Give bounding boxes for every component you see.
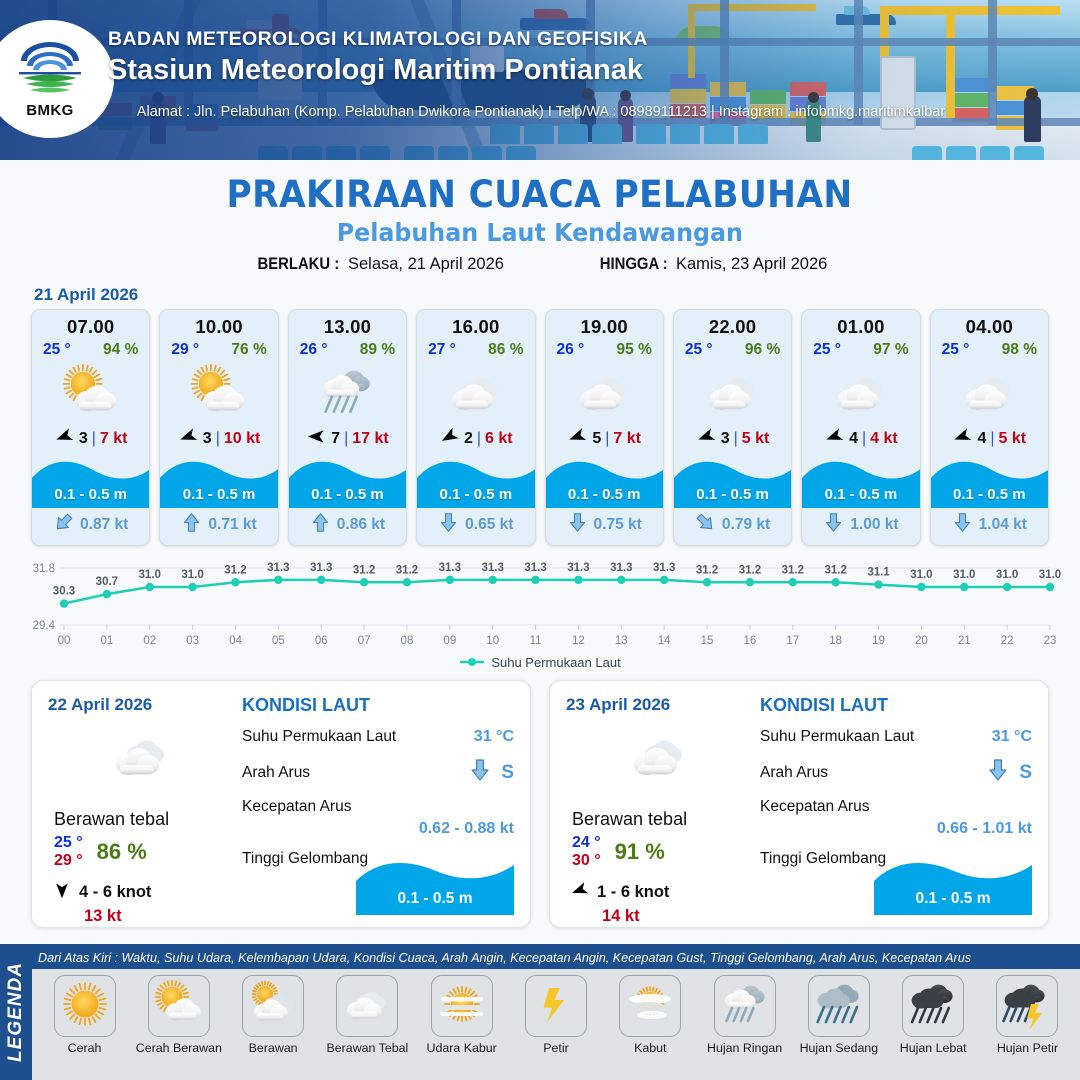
svg-text:31.2: 31.2	[396, 564, 418, 576]
svg-text:11: 11	[530, 635, 542, 647]
card-current-speed: 0.79 kt	[722, 516, 770, 534]
card-wind-separator: |	[862, 430, 866, 448]
svg-text:17: 17	[786, 635, 799, 647]
card-current-speed: 0.86 kt	[337, 516, 385, 534]
svg-text:31.3: 31.3	[567, 562, 589, 574]
card-wind-degree: 2	[464, 430, 473, 448]
card-wave-height: 0.1 - 0.5 m	[417, 486, 534, 503]
current-direction-arrow-icon	[823, 512, 844, 538]
svg-text:14: 14	[658, 635, 671, 647]
wave-height-band: 0.1 - 0.5 m	[417, 456, 534, 508]
card-wind-degree: 5	[592, 430, 601, 448]
svg-text:00: 00	[58, 635, 71, 647]
card-temperature: 29 °	[171, 341, 199, 359]
current-direction-arrow-icon	[310, 512, 331, 538]
panel-gust: 13 kt	[84, 907, 234, 926]
card-temperature: 25 °	[43, 341, 71, 359]
weather-icon-sunny	[60, 979, 110, 1034]
svg-text:31.3: 31.3	[310, 562, 332, 574]
weather-icon-partly-cloudy	[154, 979, 204, 1034]
current-direction-arrow-icon	[438, 512, 459, 538]
svg-text:05: 05	[272, 635, 285, 647]
card-humidity: 95 %	[617, 341, 652, 359]
svg-text:31.3: 31.3	[524, 562, 546, 574]
card-time: 10.00	[160, 310, 277, 338]
wave-height-band: 0.1 - 0.5 m	[32, 456, 149, 508]
card-humidity: 86 %	[488, 341, 523, 359]
panel-wind-range: 4 - 6 knot	[79, 883, 151, 902]
svg-text:22: 22	[1001, 635, 1014, 647]
card-gust-speed: 10 kt	[224, 430, 260, 448]
wind-direction-arrow-icon	[696, 426, 717, 452]
wind-direction-arrow-icon	[306, 426, 327, 452]
svg-text:15: 15	[701, 635, 714, 647]
chart-legend: Suhu Permukaan Laut	[0, 655, 1080, 670]
agency-name: BADAN METEOROLOGI KLIMATOLOGI DAN GEOFIS…	[108, 28, 648, 51]
panel-wave-graphic: 0.1 - 0.5 m	[356, 853, 514, 915]
legend-item-label: Udara Kabur	[427, 1041, 497, 1055]
svg-text:30.7: 30.7	[96, 576, 118, 588]
card-wave-height: 0.1 - 0.5 m	[32, 486, 149, 503]
card-wave-height: 0.1 - 0.5 m	[931, 486, 1048, 503]
legend-spine: LEGENDA	[0, 944, 32, 1080]
legend-tile-thunderstorm	[996, 975, 1058, 1037]
svg-text:29.4: 29.4	[33, 620, 56, 632]
current-direction-arrow-icon	[986, 758, 1010, 787]
legend-caption: Dari Atas Kiri : Waktu, Suhu Udara, Kele…	[32, 944, 1080, 969]
card-gust-speed: 17 kt	[352, 430, 388, 448]
legend-item-label: Hujan Sedang	[800, 1041, 879, 1055]
forecast-title-block: PRAKIRAAN CUACA PELABUHAN Pelabuhan Laut…	[0, 173, 1080, 274]
panel-temp-min: 25 °	[54, 834, 83, 852]
weather-icon-light-rain	[720, 979, 770, 1034]
card-wind-degree: 4	[849, 430, 858, 448]
svg-text:31.2: 31.2	[696, 564, 718, 576]
sst-value: 31 °C	[474, 728, 514, 746]
panel-wave-value: 0.1 - 0.5 m	[874, 890, 1032, 908]
legend-item: Petir	[509, 975, 602, 1055]
svg-text:31.8: 31.8	[33, 563, 55, 575]
legend-item: Berawan	[227, 975, 320, 1055]
wave-height-label: Tinggi Gelombang	[242, 850, 368, 868]
wind-direction-arrow-icon	[952, 426, 973, 452]
card-wind-separator: |	[605, 430, 609, 448]
daily-summary-panel: 22 April 2026	[31, 680, 531, 928]
valid-from: BERLAKU : Selasa, 21 April 2026	[253, 255, 504, 274]
weather-icon-cloudy	[931, 361, 1048, 423]
svg-text:03: 03	[186, 635, 199, 647]
svg-text:31.3: 31.3	[610, 562, 632, 574]
current-speed-label: Kecepatan Arus	[760, 798, 1032, 816]
legend-item: Hujan Lebat	[887, 975, 980, 1055]
svg-text:31.1: 31.1	[867, 567, 890, 579]
legend-tile-sunny	[54, 975, 116, 1037]
card-wind-degree: 3	[203, 430, 212, 448]
svg-text:31.2: 31.2	[224, 564, 246, 576]
card-temperature: 26 °	[557, 341, 585, 359]
weather-icon-moderate-rain	[814, 979, 864, 1034]
legend-item: Berawan Tebal	[321, 975, 414, 1055]
legend-item: Hujan Petir	[981, 975, 1074, 1055]
svg-text:20: 20	[915, 635, 928, 647]
current-direction-arrow-icon	[952, 512, 973, 538]
wind-direction-arrow-icon	[567, 426, 588, 452]
svg-text:31.2: 31.2	[739, 564, 761, 576]
wind-direction-arrow-icon	[54, 426, 75, 452]
card-wind-separator: |	[344, 430, 348, 448]
wave-height-band: 0.1 - 0.5 m	[931, 456, 1048, 508]
card-current-speed: 0.75 kt	[594, 516, 642, 534]
wave-height-band: 0.1 - 0.5 m	[160, 456, 277, 508]
weather-icon-cloudy	[802, 361, 919, 423]
svg-text:31.2: 31.2	[782, 564, 804, 576]
panel-gust: 14 kt	[602, 907, 752, 926]
svg-text:31.0: 31.0	[1039, 569, 1061, 581]
panel-temp-max: 29 °	[54, 852, 83, 870]
svg-text:01: 01	[100, 635, 113, 647]
card-current-speed: 1.04 kt	[979, 516, 1027, 534]
svg-text:09: 09	[443, 635, 456, 647]
weather-icon-cloudy	[674, 361, 791, 423]
weather-icon-partly-cloudy	[32, 361, 149, 423]
weather-icon-cloudy	[342, 979, 392, 1034]
current-speed-value: 0.62 - 0.88 kt	[242, 820, 514, 838]
legend-spine-label: LEGENDA	[5, 962, 27, 1062]
legend-item-label: Berawan Tebal	[327, 1041, 409, 1055]
legend-tile-fog	[619, 975, 681, 1037]
card-temperature: 25 °	[813, 341, 841, 359]
legend-item: Cerah	[38, 975, 131, 1055]
legend-tile-moderate-rain	[808, 975, 870, 1037]
forecast-card: 16.00 27 ° 86 %	[416, 309, 535, 546]
weather-icon-cloudy	[546, 361, 663, 423]
panel-humidity: 86 %	[97, 839, 147, 865]
weather-icon-thunder	[531, 979, 581, 1034]
panel-temp-max: 30 °	[572, 852, 601, 870]
card-time: 13.00	[289, 310, 406, 338]
station-name: Stasiun Meteorologi Maritim Pontianak	[108, 54, 648, 87]
svg-text:31.0: 31.0	[910, 569, 932, 581]
svg-text:04: 04	[229, 635, 242, 647]
svg-text:31.0: 31.0	[996, 569, 1018, 581]
legend-tile-partly-cloudy	[148, 975, 210, 1037]
svg-text:31.2: 31.2	[353, 564, 375, 576]
sea-condition-title: KONDISI LAUT	[760, 695, 1032, 716]
panel-date: 23 April 2026	[566, 695, 752, 715]
weather-icon-haze	[437, 979, 487, 1034]
card-gust-speed: 7 kt	[100, 430, 128, 448]
svg-text:06: 06	[315, 635, 328, 647]
legend-item: Kabut	[604, 975, 697, 1055]
legend-icon-strip: Cerah Cerah Berawan	[32, 969, 1080, 1080]
card-current-speed: 0.65 kt	[465, 516, 513, 534]
svg-text:31.3: 31.3	[267, 562, 289, 574]
current-direction-value: S	[1019, 762, 1032, 784]
legend-item: Udara Kabur	[415, 975, 508, 1055]
panel-wave-value: 0.1 - 0.5 m	[356, 890, 514, 908]
card-humidity: 76 %	[231, 341, 266, 359]
svg-text:08: 08	[401, 635, 414, 647]
sst-label: Suhu Permukaan Laut	[242, 728, 396, 746]
page-title: PRAKIRAAN CUACA PELABUHAN	[227, 173, 853, 216]
card-current-speed: 0.71 kt	[208, 516, 256, 534]
current-direction-arrow-icon	[181, 512, 202, 538]
legend-footer: LEGENDA Dari Atas Kiri : Waktu, Suhu Uda…	[0, 944, 1080, 1080]
wave-height-band: 0.1 - 0.5 m	[546, 456, 663, 508]
wave-height-band: 0.1 - 0.5 m	[674, 456, 791, 508]
svg-text:12: 12	[572, 635, 585, 647]
panel-temp-min: 24 °	[572, 834, 601, 852]
card-gust-speed: 6 kt	[485, 430, 513, 448]
card-wave-height: 0.1 - 0.5 m	[160, 486, 277, 503]
weather-icon-cloudy	[48, 723, 234, 789]
svg-text:31.0: 31.0	[953, 569, 975, 581]
daily-summary-panel: 23 April 2026	[549, 680, 1049, 928]
forecast-date-label: 21 April 2026	[34, 285, 1080, 305]
sst-chart: 31.829.400010203040506070809101112131415…	[18, 556, 1062, 651]
card-time: 19.00	[546, 310, 663, 338]
weather-icon-heavy-rain	[908, 979, 958, 1034]
wind-direction-arrow-icon	[52, 880, 72, 905]
card-gust-speed: 5 kt	[999, 430, 1027, 448]
contact-address: Alamat : Jln. Pelabuhan (Komp. Pelabuhan…	[26, 104, 1056, 120]
wave-height-band: 0.1 - 0.5 m	[289, 456, 406, 508]
hourly-forecast-row: 07.00 25 ° 94 %	[0, 309, 1080, 546]
card-wind-separator: |	[477, 430, 481, 448]
wave-height-label: Tinggi Gelombang	[760, 850, 886, 868]
current-speed-label: Kecepatan Arus	[242, 798, 514, 816]
wind-direction-arrow-icon	[178, 426, 199, 452]
validity-row: BERLAKU : Selasa, 21 April 2026 HINGGA :…	[0, 255, 1080, 274]
card-time: 04.00	[931, 310, 1048, 338]
current-direction-value: S	[501, 762, 514, 784]
panel-condition: Berawan tebal	[54, 809, 234, 830]
legend-item: Hujan Ringan	[698, 975, 791, 1055]
svg-text:13: 13	[615, 635, 628, 647]
forecast-card: 10.00 29 ° 76 %	[159, 309, 278, 546]
panel-humidity: 91 %	[615, 839, 665, 865]
valid-from-label: BERLAKU :	[257, 255, 339, 274]
chart-legend-marker	[459, 655, 485, 670]
svg-text:31.0: 31.0	[139, 569, 161, 581]
valid-to-label: HINGGA :	[600, 255, 668, 274]
weather-icon-fog	[625, 979, 675, 1034]
card-time: 01.00	[802, 310, 919, 338]
legend-tile-thunder	[525, 975, 587, 1037]
card-wave-height: 0.1 - 0.5 m	[802, 486, 919, 503]
current-direction-arrow-icon	[468, 758, 492, 787]
card-wave-height: 0.1 - 0.5 m	[546, 486, 663, 503]
weather-icon-thunderstorm	[1002, 979, 1052, 1034]
forecast-card: 22.00 25 ° 96 %	[673, 309, 792, 546]
legend-tile-cloudy	[336, 975, 398, 1037]
card-humidity: 89 %	[360, 341, 395, 359]
wind-direction-arrow-icon	[824, 426, 845, 452]
sea-condition-title: KONDISI LAUT	[242, 695, 514, 716]
valid-to: HINGGA : Kamis, 23 April 2026	[596, 255, 827, 274]
svg-text:30.3: 30.3	[53, 586, 75, 598]
svg-text:10: 10	[486, 635, 499, 647]
card-wave-height: 0.1 - 0.5 m	[289, 486, 406, 503]
card-temperature: 26 °	[300, 341, 328, 359]
current-direction-arrow-icon	[567, 512, 588, 538]
forecast-card: 07.00 25 ° 94 %	[31, 309, 150, 546]
card-wind-separator: |	[92, 430, 96, 448]
card-wind-separator: |	[990, 430, 994, 448]
card-temperature: 25 °	[685, 341, 713, 359]
card-current-speed: 1.00 kt	[850, 516, 898, 534]
weather-icon-mostly-cloudy	[248, 979, 298, 1034]
card-wind-degree: 3	[721, 430, 730, 448]
card-humidity: 97 %	[873, 341, 908, 359]
legend-item-label: Cerah Berawan	[136, 1041, 222, 1055]
page-header: BMKG BADAN METEOROLOGI KLIMATOLOGI DAN G…	[0, 0, 1080, 160]
svg-text:31.3: 31.3	[439, 562, 461, 574]
legend-item-label: Kabut	[634, 1041, 666, 1055]
wave-height-band: 0.1 - 0.5 m	[802, 456, 919, 508]
card-gust-speed: 7 kt	[613, 430, 641, 448]
wind-direction-arrow-icon	[439, 426, 460, 452]
panel-date: 22 April 2026	[48, 695, 234, 715]
card-gust-speed: 4 kt	[870, 430, 898, 448]
svg-text:18: 18	[829, 635, 842, 647]
legend-tile-light-rain	[714, 975, 776, 1037]
card-gust-speed: 5 kt	[742, 430, 770, 448]
svg-text:23: 23	[1044, 635, 1057, 647]
card-wind-degree: 3	[79, 430, 88, 448]
svg-text:31.0: 31.0	[181, 569, 203, 581]
legend-item-label: Hujan Lebat	[900, 1041, 967, 1055]
legend-item-label: Hujan Ringan	[707, 1041, 782, 1055]
current-direction-label: Arah Arus	[760, 764, 828, 782]
card-humidity: 98 %	[1002, 341, 1037, 359]
forecast-card: 04.00 25 ° 98 %	[930, 309, 1049, 546]
card-time: 22.00	[674, 310, 791, 338]
current-direction-arrow-icon	[695, 512, 716, 538]
sst-value: 31 °C	[992, 728, 1032, 746]
weather-icon-cloudy	[566, 723, 752, 789]
wind-direction-arrow-icon	[570, 880, 590, 905]
panel-wind-range: 1 - 6 knot	[597, 883, 669, 902]
legend-item: Hujan Sedang	[792, 975, 885, 1055]
legend-item-label: Petir	[543, 1041, 568, 1055]
card-wind-separator: |	[734, 430, 738, 448]
current-direction-label: Arah Arus	[242, 764, 310, 782]
valid-to-value: Kamis, 23 April 2026	[676, 255, 827, 273]
legend-item-label: Berawan	[249, 1041, 298, 1055]
valid-from-value: Selasa, 21 April 2026	[348, 255, 504, 273]
forecast-card: 13.00 26 ° 89 %	[288, 309, 407, 546]
legend-item-label: Hujan Petir	[997, 1041, 1058, 1055]
card-temperature: 25 °	[942, 341, 970, 359]
legend-tile-heavy-rain	[902, 975, 964, 1037]
legend-tile-mostly-cloudy	[242, 975, 304, 1037]
svg-text:31.3: 31.3	[653, 562, 675, 574]
weather-icon-light-rain	[289, 361, 406, 423]
card-temperature: 27 °	[428, 341, 456, 359]
svg-text:31.2: 31.2	[824, 564, 846, 576]
card-humidity: 94 %	[103, 341, 138, 359]
legend-item-label: Cerah	[68, 1041, 102, 1055]
card-wind-degree: 7	[331, 430, 340, 448]
card-current-speed: 0.87 kt	[80, 516, 128, 534]
sst-label: Suhu Permukaan Laut	[760, 728, 914, 746]
page-subtitle: Pelabuhan Laut Kendawangan	[337, 218, 743, 247]
svg-text:16: 16	[744, 635, 757, 647]
card-humidity: 96 %	[745, 341, 780, 359]
card-time: 07.00	[32, 310, 149, 338]
forecast-card: 19.00 26 ° 95 %	[545, 309, 664, 546]
panel-condition: Berawan tebal	[572, 809, 752, 830]
weather-icon-partly-cloudy	[160, 361, 277, 423]
card-wind-separator: |	[216, 430, 220, 448]
svg-text:31.3: 31.3	[482, 562, 504, 574]
panel-wave-graphic: 0.1 - 0.5 m	[874, 853, 1032, 915]
card-time: 16.00	[417, 310, 534, 338]
card-wind-degree: 4	[977, 430, 986, 448]
current-direction-arrow-icon	[53, 512, 74, 538]
legend-item: Cerah Berawan	[132, 975, 225, 1055]
forecast-card: 01.00 25 ° 97 %	[801, 309, 920, 546]
svg-text:02: 02	[143, 635, 156, 647]
daily-summary-row: 22 April 2026	[0, 670, 1080, 928]
svg-text:21: 21	[958, 635, 971, 647]
chart-legend-label: Suhu Permukaan Laut	[491, 655, 620, 670]
weather-icon-cloudy	[417, 361, 534, 423]
legend-tile-haze	[431, 975, 493, 1037]
svg-text:07: 07	[358, 635, 371, 647]
svg-text:19: 19	[872, 635, 885, 647]
card-wave-height: 0.1 - 0.5 m	[674, 486, 791, 503]
current-speed-value: 0.66 - 1.01 kt	[760, 820, 1032, 838]
